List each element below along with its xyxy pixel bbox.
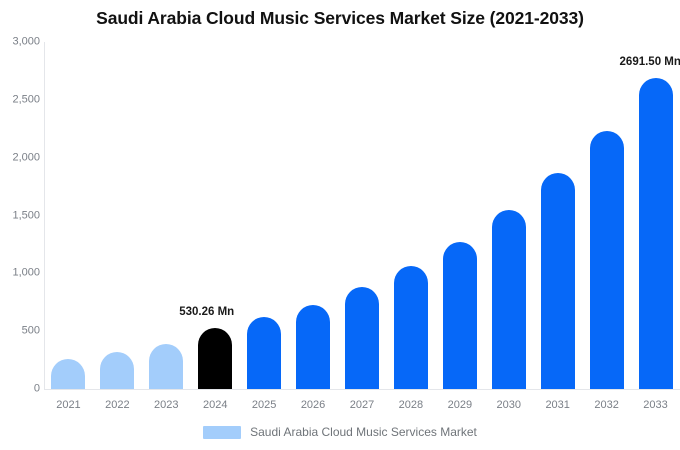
bar-rect[interactable]	[639, 78, 673, 389]
legend-swatch-icon	[203, 426, 241, 439]
bar-2032[interactable]	[590, 42, 624, 389]
bar-rect[interactable]	[296, 305, 330, 389]
y-axis-tick-label: 2,000	[4, 152, 40, 163]
bar-rect[interactable]	[541, 173, 575, 389]
y-axis-tick-label: 3,000	[4, 37, 40, 48]
bar-2021[interactable]	[51, 42, 85, 389]
bar-rect[interactable]	[198, 328, 232, 389]
bar-2030[interactable]	[492, 42, 526, 389]
y-axis-tick-label: 1,500	[4, 210, 40, 221]
chart-title: Saudi Arabia Cloud Music Services Market…	[0, 8, 680, 29]
bar-rect[interactable]	[51, 359, 85, 389]
bar-rect[interactable]	[247, 317, 281, 389]
bar-2022[interactable]	[100, 42, 134, 389]
x-axis-tick-label-2033: 2033	[626, 399, 680, 411]
bar-rect[interactable]	[492, 210, 526, 389]
bar-2024[interactable]	[198, 42, 232, 389]
data-label-2024: 530.26 Mn	[179, 306, 234, 318]
x-axis-line	[44, 389, 680, 390]
bar-rect[interactable]	[394, 266, 428, 389]
bar-rect[interactable]	[100, 352, 134, 389]
legend-item-saudi-arabia-cloud-music-services-market[interactable]: Saudi Arabia Cloud Music Services Market	[203, 425, 477, 439]
bar-rect[interactable]	[345, 287, 379, 389]
bar-2027[interactable]	[345, 42, 379, 389]
data-label-2033: 2691.50 Mn	[620, 56, 680, 68]
bar-2023[interactable]	[149, 42, 183, 389]
chart-container: Saudi Arabia Cloud Music Services Market…	[0, 0, 680, 450]
bar-2029[interactable]	[443, 42, 477, 389]
y-axis-tick-label: 1,000	[4, 268, 40, 279]
chart-legend: Saudi Arabia Cloud Music Services Market	[0, 425, 680, 439]
legend-label: Saudi Arabia Cloud Music Services Market	[250, 425, 477, 439]
bar-rect[interactable]	[443, 242, 477, 389]
bar-2033[interactable]	[639, 42, 673, 389]
bar-2031[interactable]	[541, 42, 575, 389]
y-axis: 05001,0001,5002,0002,5003,000	[0, 0, 40, 450]
y-axis-tick-label: 500	[4, 326, 40, 337]
y-axis-tick-label: 2,500	[4, 94, 40, 105]
bar-2028[interactable]	[394, 42, 428, 389]
bar-rect[interactable]	[149, 344, 183, 389]
bar-rect[interactable]	[590, 131, 624, 389]
bar-2026[interactable]	[296, 42, 330, 389]
y-axis-tick-label: 0	[4, 384, 40, 395]
bar-2025[interactable]	[247, 42, 281, 389]
